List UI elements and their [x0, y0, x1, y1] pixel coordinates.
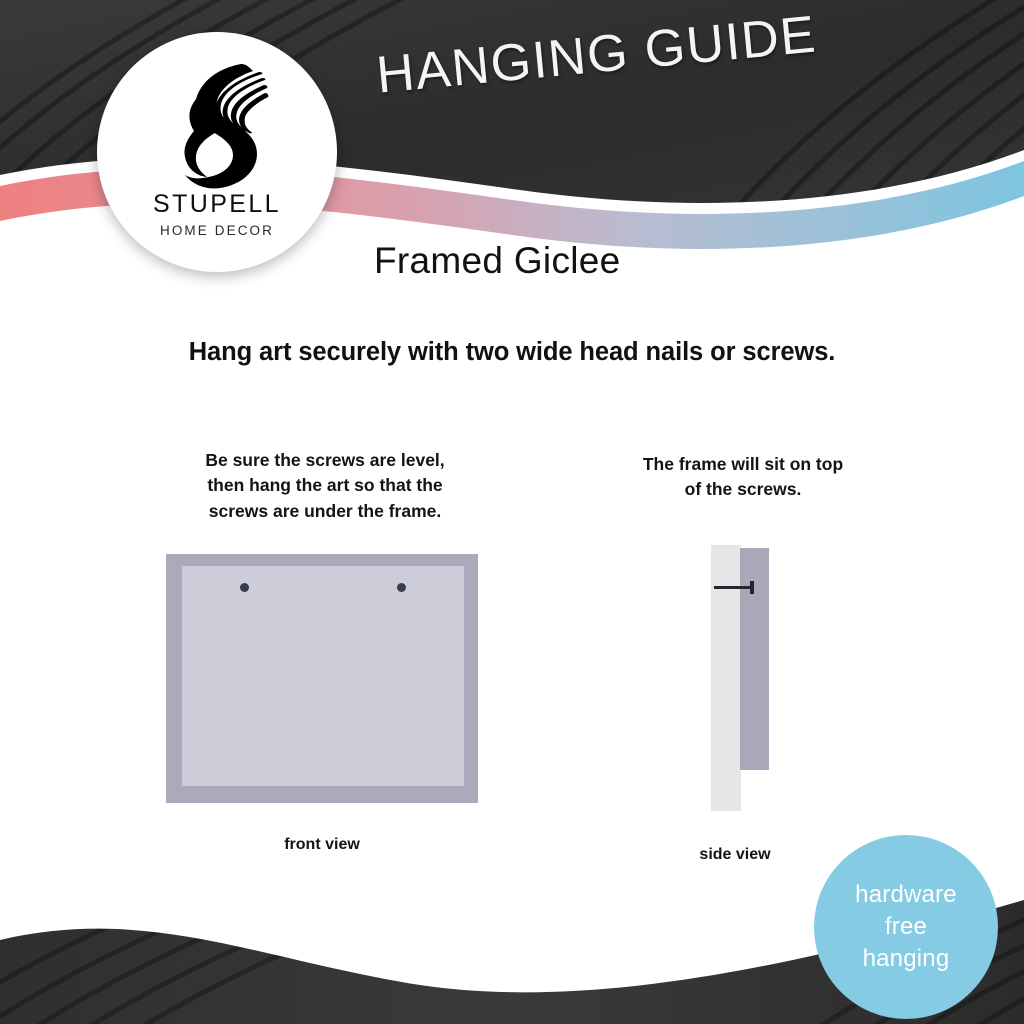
- side-view-diagram: [700, 540, 790, 815]
- stupell-swoosh-icon: [163, 58, 271, 190]
- main-instruction: Hang art securely with two wide head nai…: [0, 338, 1024, 367]
- front-view-caption-line-1: Be sure the screws are level,: [160, 448, 490, 473]
- front-view-art-panel: [182, 566, 464, 786]
- screw-dot-right: [397, 583, 406, 592]
- front-view-caption-line-3: screws are under the frame.: [160, 499, 490, 524]
- product-name: Framed Giclee: [374, 240, 621, 282]
- badge-line-1: hardware: [855, 879, 957, 911]
- hanging-guide-page: HANGING GUIDE STUPELL HOME DECOR Framed …: [0, 0, 1024, 1024]
- side-view-caption-line-2: of the screws.: [593, 477, 893, 502]
- side-view-screw-head: [750, 581, 754, 594]
- badge-line-2: free: [885, 911, 927, 943]
- side-view-frame: [740, 548, 769, 770]
- front-view-caption-line-2: then hang the art so that the: [160, 473, 490, 498]
- front-view-label: front view: [172, 836, 472, 854]
- brand-logo-badge: STUPELL HOME DECOR: [97, 32, 337, 272]
- screw-dot-left: [240, 583, 249, 592]
- side-view-screw-shaft: [714, 586, 751, 589]
- hardware-free-hanging-badge: hardware free hanging: [814, 835, 998, 1019]
- page-title: HANGING GUIDE: [374, 0, 897, 106]
- front-view-diagram: [166, 554, 478, 803]
- side-view-caption-line-1: The frame will sit on top: [593, 452, 893, 477]
- badge-line-3: hanging: [863, 943, 950, 975]
- side-view-wall: [711, 545, 741, 811]
- front-view-caption: Be sure the screws are level, then hang …: [160, 448, 490, 524]
- logo-brand-name: STUPELL: [153, 192, 281, 217]
- side-view-label: side view: [640, 846, 830, 864]
- logo-brand-subtitle: HOME DECOR: [160, 224, 274, 238]
- side-view-caption: The frame will sit on top of the screws.: [593, 452, 893, 503]
